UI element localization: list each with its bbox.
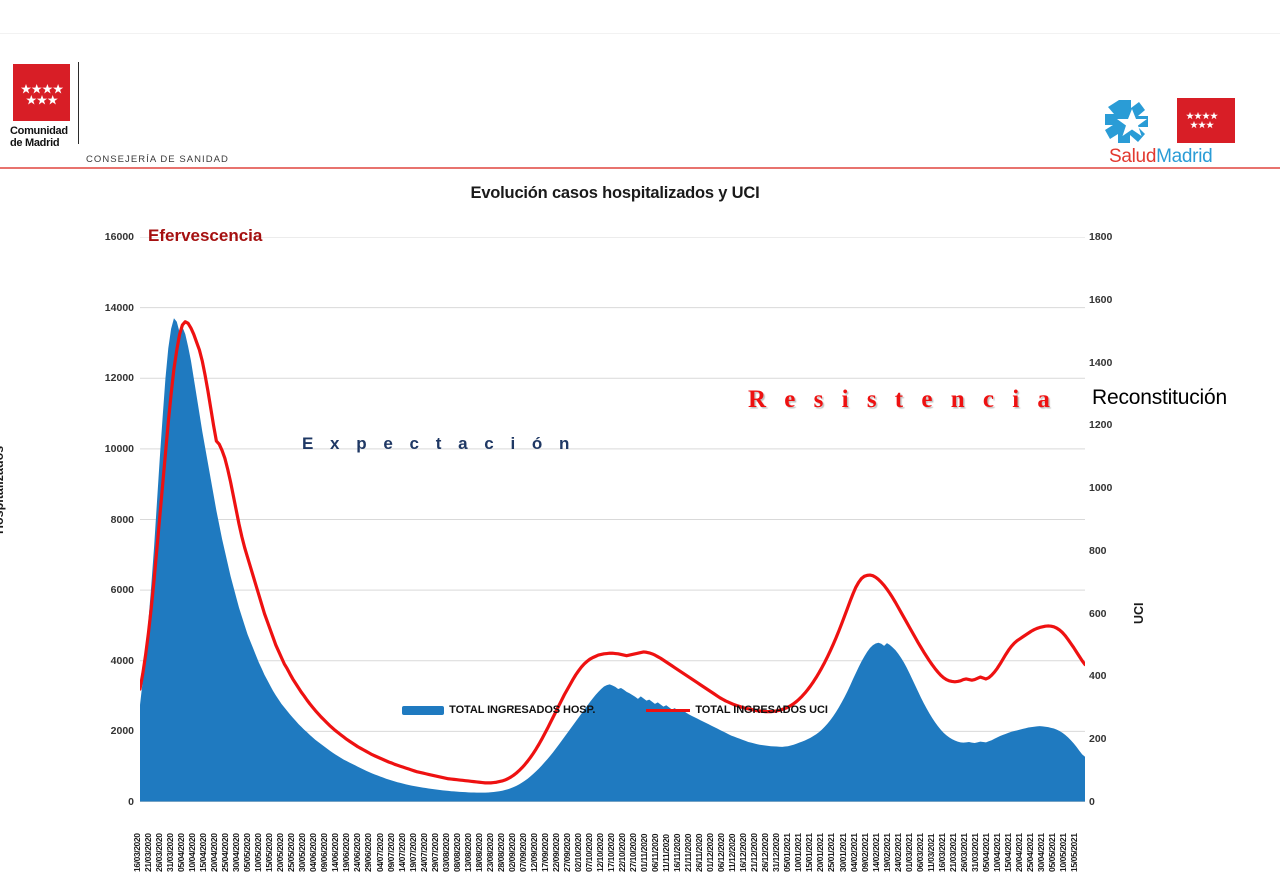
chart-title: Evolución casos hospitalizados y UCI — [0, 184, 1230, 203]
x-tick-label: 23/08/2020 — [485, 833, 495, 872]
annotation-reconstitucion: Reconstitución — [1092, 386, 1227, 410]
y-axis-right-label: UCI — [1132, 602, 1146, 624]
x-tick-label: 24/02/2021 — [893, 833, 903, 872]
header-divider — [78, 62, 79, 144]
x-tick-label: 31/03/2021 — [970, 833, 980, 872]
x-tick-label: 17/10/2020 — [606, 833, 616, 872]
x-tick-label: 27/09/2020 — [562, 833, 572, 872]
y-tick-left: 6000 — [82, 584, 134, 596]
x-tick-label: 10/04/2020 — [187, 833, 197, 872]
plot-area — [140, 237, 1085, 802]
x-tick-label: 09/07/2020 — [386, 833, 396, 872]
comunidad-de-madrid-wordmark: Comunidad de Madrid — [10, 126, 80, 149]
x-tick-label: 22/10/2020 — [617, 833, 627, 872]
x-tick-label: 01/03/2021 — [904, 833, 914, 872]
annotation-resistencia: R e s i s t e n c i a — [748, 386, 1056, 414]
x-tick-label: 19/06/2020 — [341, 833, 351, 872]
x-tick-label: 08/08/2020 — [452, 833, 462, 872]
x-tick-label: 29/06/2020 — [363, 833, 373, 872]
seven-stars-icon-small — [1177, 98, 1235, 143]
x-tick-label: 03/08/2020 — [441, 833, 451, 872]
x-tick-label: 05/05/2020 — [242, 833, 252, 872]
y-tick-right: 1400 — [1089, 357, 1141, 369]
x-tick-label: 07/10/2020 — [584, 833, 594, 872]
x-tick-label: 20/01/2021 — [815, 833, 825, 872]
x-tick-label: 26/12/2020 — [760, 833, 770, 872]
y-tick-left: 16000 — [82, 231, 134, 243]
x-tick-label: 11/03/2021 — [926, 834, 936, 872]
y-axis-left-label: Hospitalizados — [0, 446, 6, 534]
x-tick-label: 09/06/2020 — [319, 833, 329, 872]
salud-madrid-logo — [1105, 96, 1235, 146]
x-tick-label: 10/05/2021 — [1058, 833, 1068, 872]
brand-madrid: Madrid — [1156, 146, 1212, 167]
x-tick-label: 12/09/2020 — [529, 833, 539, 872]
salud-madrid-wordmark: SaludMadrid — [1109, 146, 1212, 168]
annotation-expectacion: E x p e c t a c i ó n — [302, 434, 575, 454]
x-tick-label: 16/12/2020 — [738, 833, 748, 872]
x-tick-label: 16/03/2021 — [937, 833, 947, 872]
x-tick-label: 25/04/2020 — [220, 833, 230, 872]
x-tick-label: 15/01/2021 — [804, 833, 814, 872]
x-tick-label: 21/03/2020 — [143, 833, 153, 872]
x-tick-label: 19/02/2021 — [882, 833, 892, 872]
slide-body: Comunidad de Madrid CONSEJERÍA DE SANIDA… — [0, 33, 1280, 721]
x-tick-label: 14/06/2020 — [330, 833, 340, 872]
y-tick-right: 1800 — [1089, 231, 1141, 243]
x-tick-label: 16/11/2020 — [672, 834, 682, 872]
x-tick-label: 10/01/2021 — [793, 833, 803, 872]
y-tick-right: 1200 — [1089, 419, 1141, 431]
y-tick-right: 1600 — [1089, 294, 1141, 306]
x-tick-label: 17/09/2020 — [540, 833, 550, 872]
x-tick-label: 16/03/2020 — [132, 833, 142, 872]
y-tick-left: 4000 — [82, 655, 134, 667]
x-tick-label: 20/04/2020 — [209, 833, 219, 872]
x-tick-label: 31/03/2020 — [165, 833, 175, 872]
x-tick-label: 02/09/2020 — [507, 833, 517, 872]
x-tick-label: 27/10/2020 — [628, 833, 638, 872]
x-tick-label: 19/07/2020 — [408, 833, 418, 872]
y-tick-left: 0 — [82, 796, 134, 808]
legend-swatch-blue-icon — [402, 706, 444, 715]
y-axis-left-ticks: 0200040006000800010000120001400016000 — [78, 237, 134, 802]
x-tick-label: 30/04/2020 — [231, 833, 241, 872]
x-tick-label: 31/12/2020 — [771, 833, 781, 872]
chart-plot-svg — [140, 237, 1085, 802]
x-tick-label: 26/11/2020 — [694, 834, 704, 872]
slide-header: Comunidad de Madrid CONSEJERÍA DE SANIDA… — [0, 34, 1280, 139]
y-tick-right: 400 — [1089, 670, 1141, 682]
y-tick-right: 0 — [1089, 796, 1141, 808]
y-tick-right: 1000 — [1089, 482, 1141, 494]
x-tick-label: 15/04/2021 — [1003, 833, 1013, 872]
x-tick-label: 06/03/2021 — [915, 833, 925, 872]
x-tick-label: 04/02/2021 — [849, 833, 859, 872]
y-tick-left: 8000 — [82, 514, 134, 526]
x-tick-label: 28/08/2020 — [496, 833, 506, 872]
x-tick-label: 14/07/2020 — [397, 833, 407, 872]
y-tick-left: 10000 — [82, 443, 134, 455]
x-tick-label: 30/01/2021 — [838, 833, 848, 872]
x-tick-label: 10/05/2020 — [253, 833, 263, 872]
x-tick-label: 14/02/2021 — [871, 833, 881, 872]
y-axis-right-ticks: 020040060080010001200140016001800 — [1089, 237, 1145, 802]
x-tick-label: 04/06/2020 — [308, 833, 318, 872]
x-tick-label: 02/10/2020 — [573, 833, 583, 872]
x-tick-label: 15/05/2020 — [264, 833, 274, 872]
x-tick-label: 06/12/2020 — [716, 833, 726, 872]
x-tick-label: 25/04/2021 — [1025, 833, 1035, 872]
salud-madrid-star-icon — [1105, 96, 1167, 146]
y-tick-right: 200 — [1089, 733, 1141, 745]
chart-area: Hospitalizados 0200040006000800010000120… — [0, 204, 1280, 734]
department-label: CONSEJERÍA DE SANIDAD — [86, 154, 229, 165]
x-tick-label: 20/04/2021 — [1014, 833, 1024, 872]
x-tick-label: 30/05/2020 — [297, 833, 307, 872]
legend-swatch-red-icon — [646, 709, 690, 712]
x-tick-label: 20/05/2020 — [275, 833, 285, 872]
x-tick-label: 01/11/2020 — [639, 834, 649, 872]
chart-legend: TOTAL INGRESADOS HOSP. TOTAL INGRESADOS … — [0, 704, 1230, 716]
legend-item-uci[interactable]: TOTAL INGRESADOS UCI — [646, 704, 827, 716]
y-tick-right: 800 — [1089, 545, 1141, 557]
x-tick-label: 07/09/2020 — [518, 833, 528, 872]
x-tick-label: 24/06/2020 — [352, 833, 362, 872]
x-tick-label: 15/04/2020 — [198, 833, 208, 872]
x-tick-label: 09/02/2021 — [860, 833, 870, 872]
salud-madrid-red-box — [1177, 98, 1235, 143]
x-tick-label: 01/12/2020 — [705, 833, 715, 872]
y-tick-left: 2000 — [82, 725, 134, 737]
seven-stars-icon — [13, 64, 70, 121]
y-tick-left: 12000 — [82, 372, 134, 384]
x-axis-tick-labels: 16/03/202021/03/202026/03/202031/03/2020… — [140, 802, 1085, 872]
x-tick-label: 06/11/2020 — [650, 834, 660, 872]
x-tick-label: 13/08/2020 — [463, 833, 473, 872]
x-tick-label: 05/05/2021 — [1047, 833, 1057, 872]
x-tick-label: 05/04/2020 — [176, 833, 186, 872]
x-tick-label: 05/04/2021 — [981, 833, 991, 872]
header-rule — [0, 167, 1280, 169]
x-tick-label: 25/01/2021 — [826, 833, 836, 872]
x-tick-label: 25/05/2020 — [286, 833, 296, 872]
x-tick-label: 04/07/2020 — [375, 833, 385, 872]
org-line-1: Comunidad — [10, 126, 80, 138]
annotation-efervescencia: Efervescencia — [148, 226, 262, 246]
x-tick-label: 30/04/2021 — [1036, 833, 1046, 872]
x-tick-label: 29/07/2020 — [430, 833, 440, 872]
x-tick-label: 22/09/2020 — [551, 833, 561, 872]
org-line-2: de Madrid — [10, 138, 80, 150]
legend-item-hosp[interactable]: TOTAL INGRESADOS HOSP. — [402, 704, 595, 716]
brand-salud: Salud — [1109, 146, 1156, 167]
slide: Comunidad de Madrid CONSEJERÍA DE SANIDA… — [0, 0, 1280, 720]
x-tick-label: 18/08/2020 — [474, 833, 484, 872]
x-tick-label: 12/10/2020 — [595, 833, 605, 872]
x-tick-label: 15/05/2021 — [1069, 833, 1079, 872]
comunidad-de-madrid-logo — [13, 64, 70, 121]
x-tick-label: 11/11/2020 — [661, 834, 671, 872]
x-tick-label: 24/07/2020 — [419, 833, 429, 872]
x-tick-label: 05/01/2021 — [782, 833, 792, 872]
y-tick-left: 14000 — [82, 302, 134, 314]
x-tick-label: 21/11/2020 — [683, 834, 693, 872]
legend-label-hosp: TOTAL INGRESADOS HOSP. — [449, 704, 595, 716]
x-tick-label: 11/12/2020 — [727, 834, 737, 872]
x-tick-label: 21/12/2020 — [749, 833, 759, 872]
x-tick-label: 26/03/2021 — [959, 833, 969, 872]
x-tick-label: 10/04/2021 — [992, 833, 1002, 872]
x-tick-label: 26/03/2020 — [154, 833, 164, 872]
x-tick-label: 21/03/2021 — [948, 833, 958, 872]
legend-label-uci: TOTAL INGRESADOS UCI — [695, 704, 827, 716]
